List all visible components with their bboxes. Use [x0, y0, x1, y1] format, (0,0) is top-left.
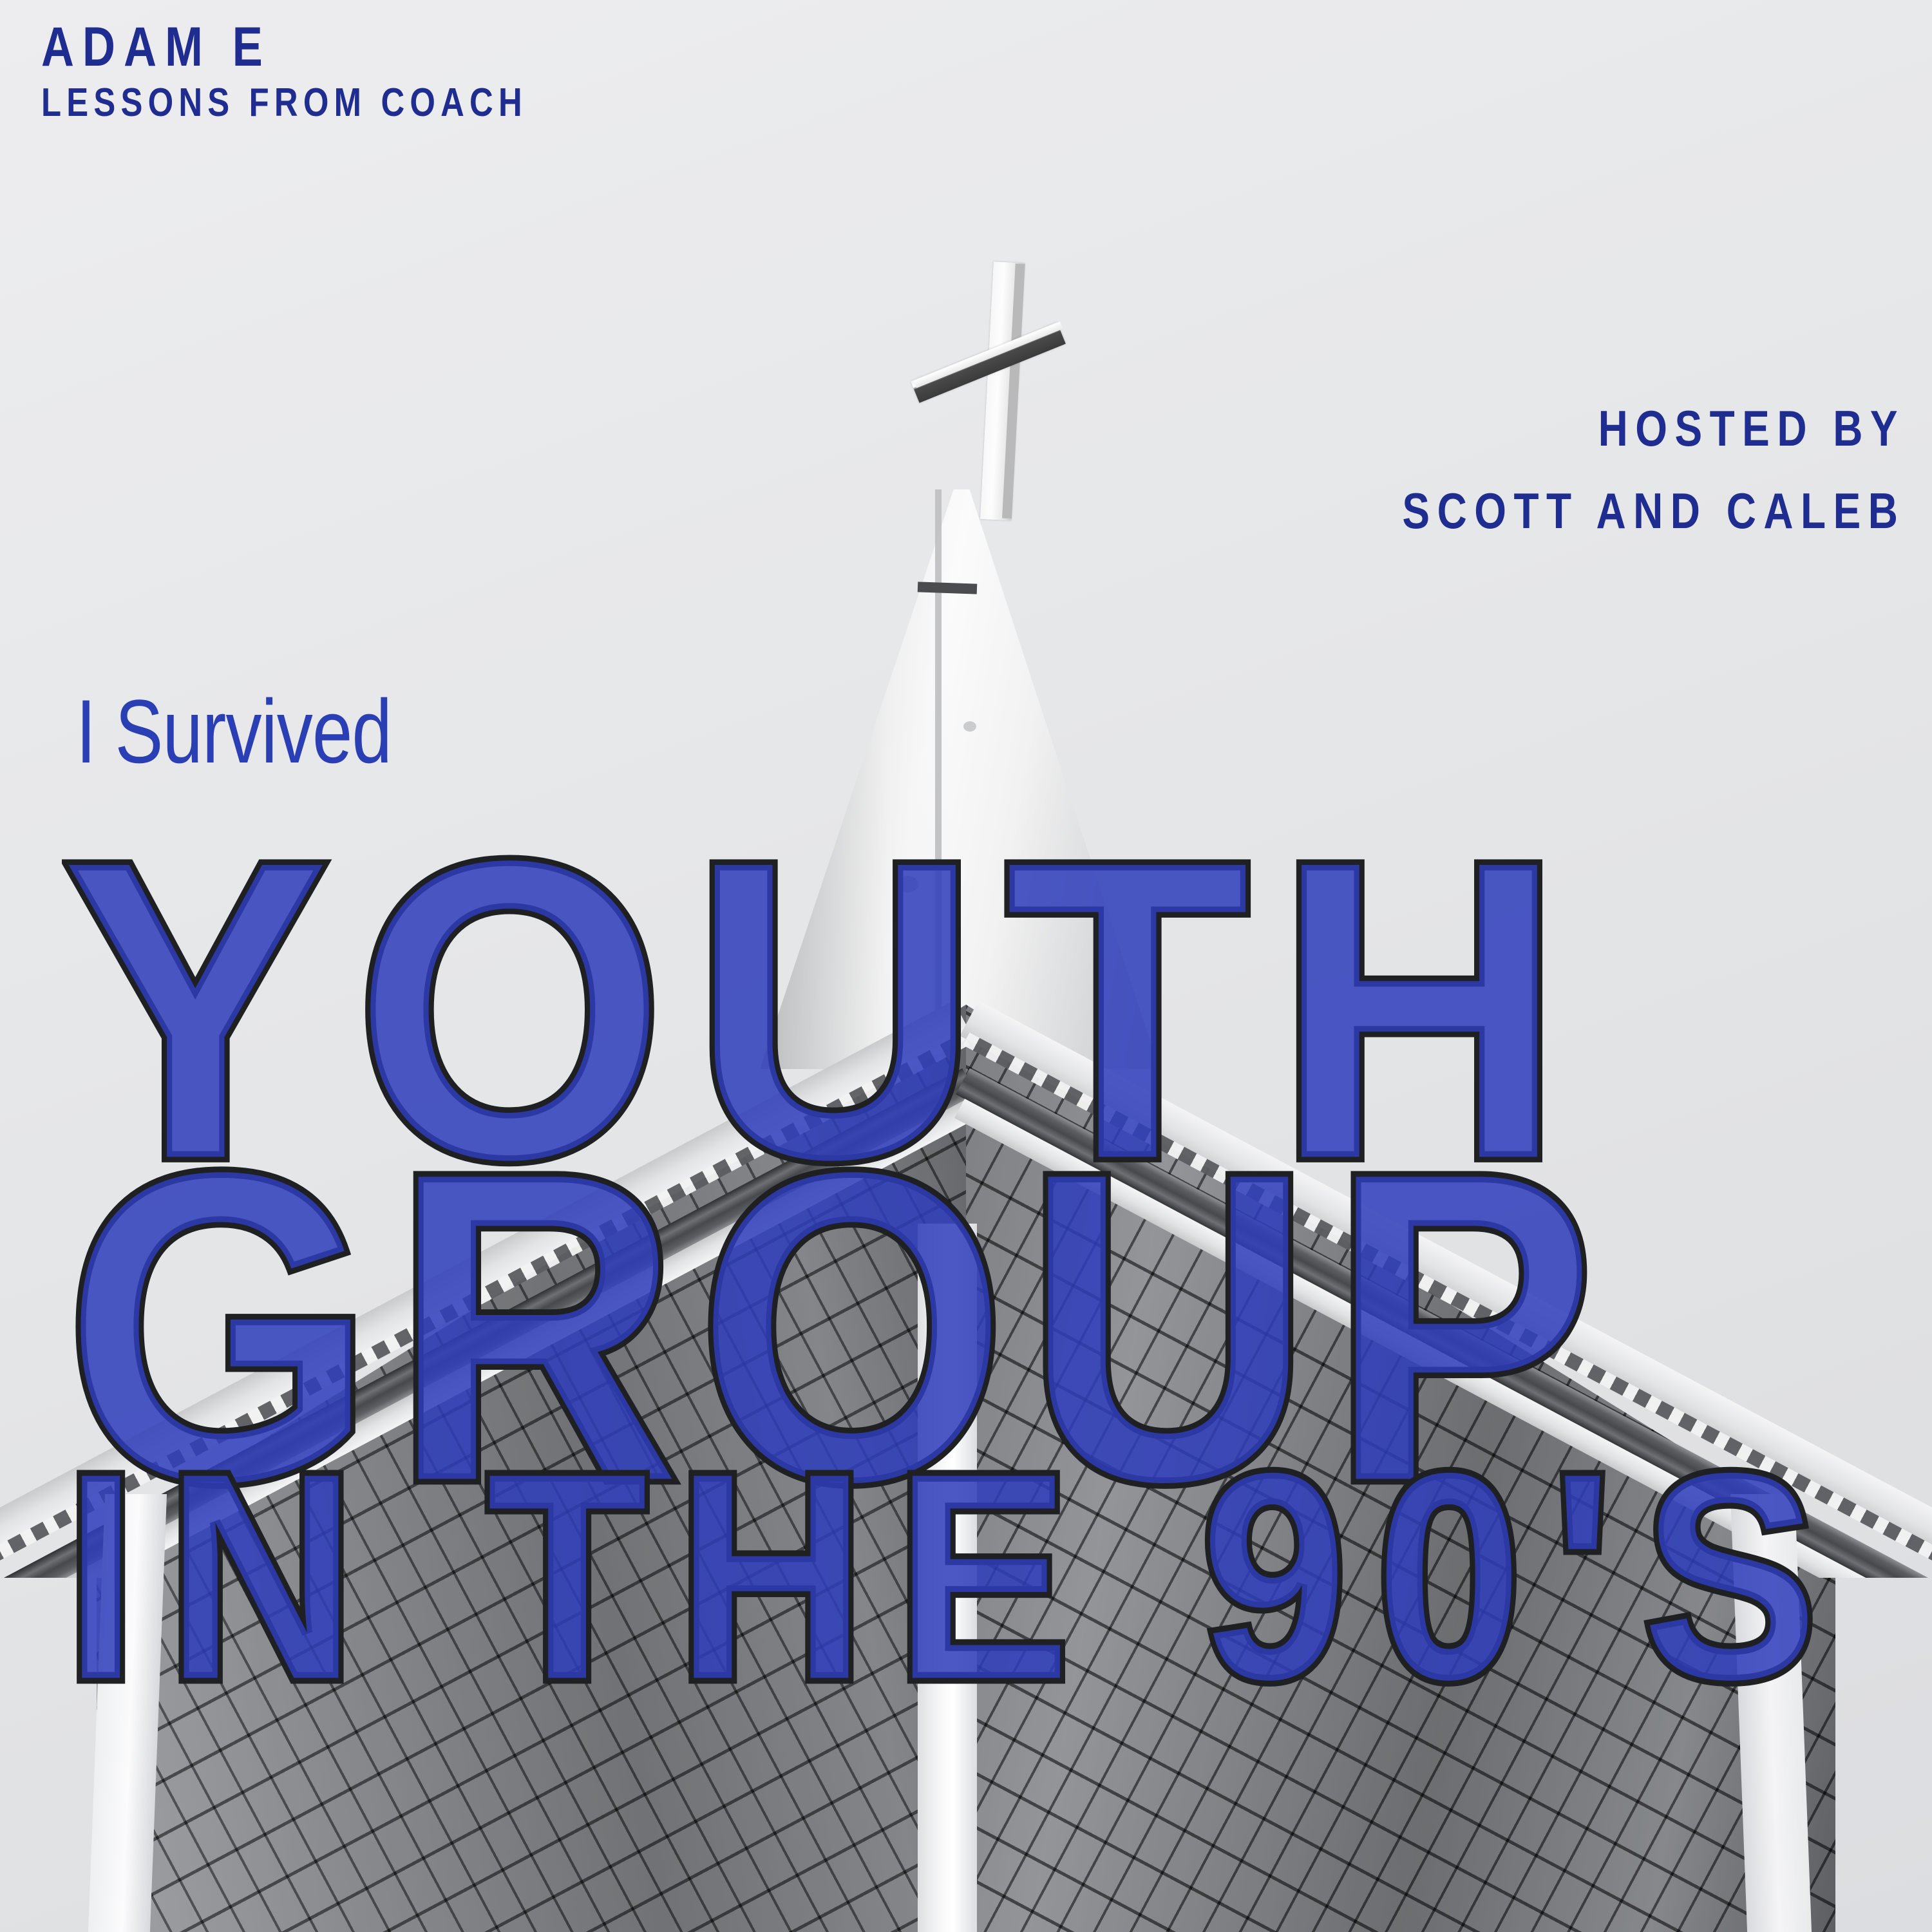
- steeple-band-trim: [918, 582, 978, 594]
- guest-name: ADAM E: [41, 15, 271, 79]
- title-lead-in: I Survived: [76, 679, 392, 784]
- host-names: SCOTT AND CALEB: [1402, 482, 1905, 540]
- title-line-in-the-90s: IN THE 90'S: [64, 1430, 1846, 1723]
- hosted-by-label: HOSTED BY: [1598, 399, 1905, 458]
- guest-subtitle: LESSONS FROM COACH: [41, 80, 527, 126]
- podcast-cover-art: ADAM E LESSONS FROM COACH HOSTED BY SCOT…: [0, 0, 1932, 1932]
- steeple-paint-fleck: [963, 721, 976, 732]
- cross-icon: [921, 254, 1075, 525]
